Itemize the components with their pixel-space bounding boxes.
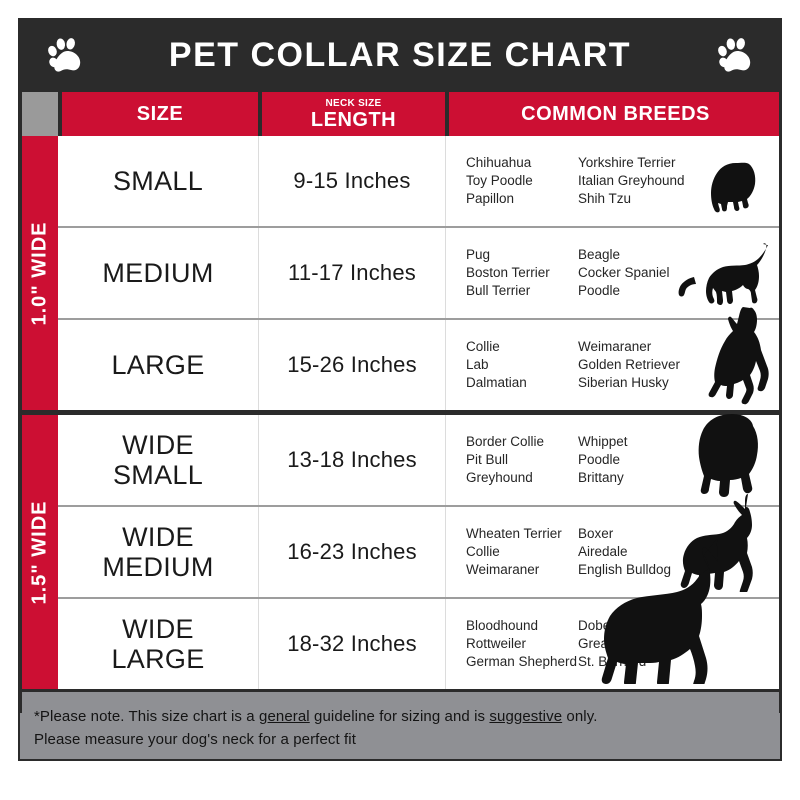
- breed-name: Boston Terrier: [466, 264, 578, 282]
- breeds-column-1: CollieLabDalmatian: [466, 338, 578, 391]
- cell-size: WIDESMALL: [58, 415, 258, 505]
- breeds-column-1: BloodhoundRottweilerGerman Shepherd: [466, 617, 578, 670]
- breed-name: Shih Tzu: [578, 190, 698, 208]
- cell-breeds: PugBoston TerrierBull TerrierBeagleCocke…: [445, 228, 782, 318]
- size-label: MEDIUM: [102, 258, 213, 288]
- cell-size: MEDIUM: [58, 228, 258, 318]
- breed-name: Papillon: [466, 190, 578, 208]
- length-label: 18-32 Inches: [287, 631, 417, 657]
- cell-breeds: BloodhoundRottweilerGerman ShepherdDober…: [445, 599, 782, 689]
- breed-name: Border Collie: [466, 433, 578, 451]
- breed-name: Pug: [466, 246, 578, 264]
- footer-line-2: Please measure your dog's neck for a per…: [34, 728, 780, 751]
- breeds-column-1: ChihuahuaToy PoodlePapillon: [466, 154, 578, 207]
- breed-name: German Shepherd: [466, 653, 578, 671]
- breeds-column-2: BoxerAiredaleEnglish Bulldog: [578, 525, 698, 578]
- pet-collar-size-chart: PET COLLAR SIZE CHART SIZE NECK SIZE LEN…: [18, 18, 782, 785]
- breeds-column-2: BeagleCocker SpanielPoodle: [578, 246, 698, 299]
- breed-name: Weimaraner: [466, 561, 578, 579]
- breed-name: Toy Poodle: [466, 172, 578, 190]
- table-body: 1.0" WIDESMALL9-15 InchesChihuahuaToy Po…: [18, 136, 782, 689]
- breed-name: Yorkshire Terrier: [578, 154, 698, 172]
- table-row: MEDIUM11-17 InchesPugBoston TerrierBull …: [58, 228, 782, 318]
- table-header-row: SIZE NECK SIZE LENGTH COMMON BREEDS: [18, 92, 782, 136]
- breed-name: Lab: [466, 356, 578, 374]
- length-label: 11-17 Inches: [288, 260, 416, 286]
- breeds-column-2: DobermanGreat DaneSt. Bernard: [578, 617, 698, 670]
- length-label: 16-23 Inches: [287, 539, 417, 565]
- cell-size: LARGE: [58, 320, 258, 410]
- breed-name: Wheaten Terrier: [466, 525, 578, 543]
- breed-name: Chihuahua: [466, 154, 578, 172]
- breed-name: Collie: [466, 338, 578, 356]
- table-section: 1.5" WIDEWIDESMALL13-18 InchesBorder Col…: [18, 415, 782, 689]
- breed-name: Beagle: [578, 246, 698, 264]
- footer-note: *Please note. This size chart is a gener…: [18, 689, 782, 761]
- breed-name: Poodle: [578, 451, 698, 469]
- cell-length: 18-32 Inches: [258, 599, 445, 689]
- table-row: SMALL9-15 InchesChihuahuaToy PoodlePapil…: [58, 136, 782, 226]
- breed-name: Cocker Spaniel: [578, 264, 698, 282]
- size-label: WIDELARGE: [111, 614, 204, 674]
- paw-print-icon: [46, 35, 84, 75]
- breed-name: Boxer: [578, 525, 698, 543]
- cell-length: 16-23 Inches: [258, 507, 445, 597]
- breed-name: Poodle: [578, 282, 698, 300]
- cell-breeds: Wheaten TerrierCollieWeimaranerBoxerAire…: [445, 507, 782, 597]
- table-row: WIDESMALL13-18 InchesBorder ColliePit Bu…: [58, 415, 782, 505]
- breeds-column-2: WhippetPoodleBrittany: [578, 433, 698, 486]
- breed-name: Airedale: [578, 543, 698, 561]
- table-corner-cell: [18, 92, 58, 136]
- cell-breeds: ChihuahuaToy PoodlePapillonYorkshire Ter…: [445, 136, 782, 226]
- footer-underline-suggestive: suggestive: [489, 708, 562, 725]
- breed-name: Dalmatian: [466, 374, 578, 392]
- table-section: 1.0" WIDESMALL9-15 InchesChihuahuaToy Po…: [18, 136, 782, 410]
- size-table: SIZE NECK SIZE LENGTH COMMON BREEDS 1.0"…: [18, 92, 782, 689]
- breed-name: Bull Terrier: [466, 282, 578, 300]
- breed-name: Italian Greyhound: [578, 172, 698, 190]
- column-header-length-label: LENGTH: [311, 110, 396, 130]
- column-header-length: NECK SIZE LENGTH: [258, 92, 445, 136]
- column-header-breeds-label: COMMON BREEDS: [521, 104, 710, 124]
- cell-length: 9-15 Inches: [258, 136, 445, 226]
- breed-name: Rottweiler: [466, 635, 578, 653]
- size-label: LARGE: [111, 350, 204, 380]
- length-label: 13-18 Inches: [287, 447, 417, 473]
- breeds-column-1: Border ColliePit BullGreyhound: [466, 433, 578, 486]
- breeds-column-2: WeimaranerGolden RetrieverSiberian Husky: [578, 338, 698, 391]
- section-rail-label: 1.0" WIDE: [29, 221, 52, 325]
- cell-breeds: Border ColliePit BullGreyhoundWhippetPoo…: [445, 415, 782, 505]
- cell-size: SMALL: [58, 136, 258, 226]
- cell-length: 13-18 Inches: [258, 415, 445, 505]
- footer-line-1: *Please note. This size chart is a gener…: [34, 705, 780, 728]
- cell-size: WIDELARGE: [58, 599, 258, 689]
- breed-name: English Bulldog: [578, 561, 698, 579]
- length-label: 9-15 Inches: [293, 168, 410, 194]
- breed-name: St. Bernard: [578, 653, 698, 671]
- table-left-edge: [18, 92, 22, 713]
- cell-length: 11-17 Inches: [258, 228, 445, 318]
- section-rail-label: 1.5" WIDE: [29, 500, 52, 604]
- breeds-column-1: PugBoston TerrierBull Terrier: [466, 246, 578, 299]
- section-rail: 1.0" WIDE: [18, 136, 58, 410]
- breed-name: Great Dane: [578, 635, 698, 653]
- column-header-length-sup: NECK SIZE: [325, 99, 381, 109]
- table-row: WIDEMEDIUM16-23 InchesWheaten TerrierCol…: [58, 507, 782, 597]
- breed-name: Doberman: [578, 617, 698, 635]
- breed-name: Weimaraner: [578, 338, 698, 356]
- size-label: WIDESMALL: [113, 430, 203, 490]
- column-header-size-label: SIZE: [137, 104, 183, 124]
- table-row: WIDELARGE18-32 InchesBloodhoundRottweile…: [58, 599, 782, 689]
- table-right-edge: [779, 92, 782, 713]
- breed-name: Siberian Husky: [578, 374, 698, 392]
- section-rail: 1.5" WIDE: [18, 415, 58, 689]
- breed-name: Collie: [466, 543, 578, 561]
- breed-name: Whippet: [578, 433, 698, 451]
- column-header-breeds: COMMON BREEDS: [445, 92, 782, 136]
- length-label: 15-26 Inches: [287, 352, 417, 378]
- breeds-column-2: Yorkshire TerrierItalian GreyhoundShih T…: [578, 154, 698, 207]
- size-label: WIDEMEDIUM: [102, 522, 213, 582]
- breed-name: Greyhound: [466, 469, 578, 487]
- table-row: LARGE15-26 InchesCollieLabDalmatianWeima…: [58, 320, 782, 410]
- footer-underline-general: general: [259, 708, 310, 725]
- chart-title-bar: PET COLLAR SIZE CHART: [18, 18, 782, 92]
- cell-breeds: CollieLabDalmatianWeimaranerGolden Retri…: [445, 320, 782, 410]
- breed-name: Pit Bull: [466, 451, 578, 469]
- cell-length: 15-26 Inches: [258, 320, 445, 410]
- breed-name: Golden Retriever: [578, 356, 698, 374]
- breed-name: Bloodhound: [466, 617, 578, 635]
- column-header-size: SIZE: [58, 92, 258, 136]
- paw-print-icon: [716, 35, 754, 75]
- page-title: PET COLLAR SIZE CHART: [169, 36, 631, 75]
- breeds-column-1: Wheaten TerrierCollieWeimaraner: [466, 525, 578, 578]
- cell-size: WIDEMEDIUM: [58, 507, 258, 597]
- breed-name: Brittany: [578, 469, 698, 487]
- size-label: SMALL: [113, 166, 203, 196]
